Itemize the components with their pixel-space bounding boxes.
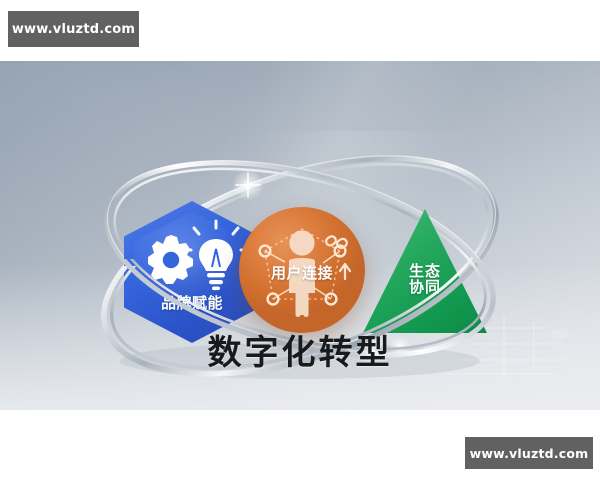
- watermark-top: www.vluztd.com: [8, 11, 139, 47]
- badge-ecosystem-collaboration[interactable]: 生态 协同: [363, 209, 487, 333]
- gear-icon: [148, 235, 193, 284]
- person-icon: [289, 230, 315, 317]
- arrow-up-icon: [340, 264, 350, 279]
- watermark-bottom: www.vluztd.com: [465, 437, 593, 469]
- poster-image: 品牌赋能: [0, 61, 600, 410]
- triangle-shape: [363, 209, 487, 333]
- page-title: 数字化转型: [0, 325, 600, 374]
- user-icon-group: [239, 207, 365, 333]
- badge-user-connection[interactable]: 用户连接: [239, 207, 365, 333]
